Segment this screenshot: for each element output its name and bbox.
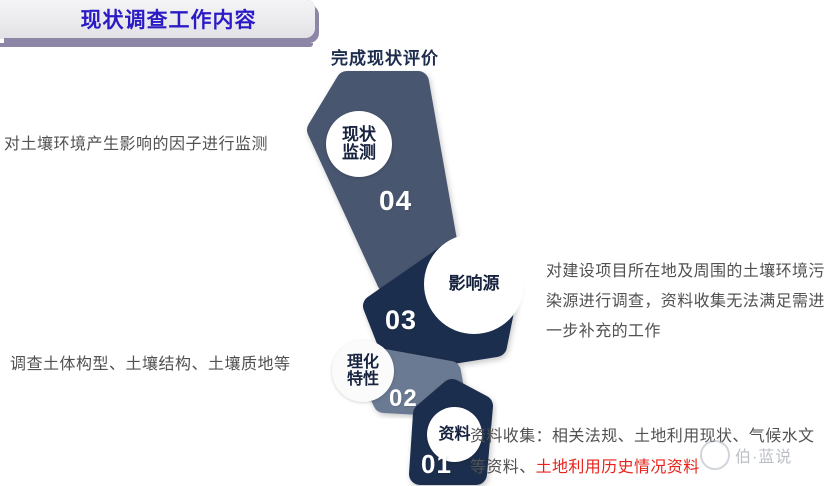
step-number-01: 01	[421, 449, 452, 480]
slide-title-bar: 现状调查工作内容	[0, 0, 315, 38]
step-circle-monitoring[interactable]: 现状 监测	[326, 111, 392, 177]
step-label-line2: 特性	[347, 371, 379, 388]
step-number-03: 03	[385, 305, 417, 336]
step-number-04: 04	[379, 185, 412, 217]
title-underline-bar	[0, 43, 313, 47]
annotation-left-physchem: 调查土体构型、土壤结构、土壤质地等	[10, 350, 291, 374]
slide-title-text: 现状调查工作内容	[59, 4, 257, 34]
annotation-left-monitoring: 对土壤环境产生影响的因子进行监测	[4, 130, 268, 154]
ribbon-band-step-04	[318, 82, 448, 282]
step-label-line2: 监测	[342, 144, 376, 162]
annotation-right-data-highlight: 土地利用历史情况资料	[536, 459, 700, 476]
annotation-right-data-collection: 资料收集：相关法规、土地利用现状、气候水文等资料、土地利用历史情况资料	[470, 421, 830, 483]
step-number-02: 02	[389, 385, 418, 413]
step-circle-impact-source[interactable]: 影响源	[424, 234, 524, 334]
step-label-line1: 理化	[347, 354, 379, 371]
step-label-line1: 现状	[342, 126, 376, 144]
section-heading: 完成现状评价	[331, 44, 439, 69]
annotation-right-impact-source: 对建设项目所在地及周围的土壤环境污染源进行调查，资料收集无法满足需进一步补充的工…	[546, 257, 826, 347]
step-circle-physchem[interactable]: 理化 特性	[332, 340, 394, 402]
step-label-line1: 影响源	[449, 275, 500, 293]
step-label-line1: 资料	[438, 426, 470, 443]
